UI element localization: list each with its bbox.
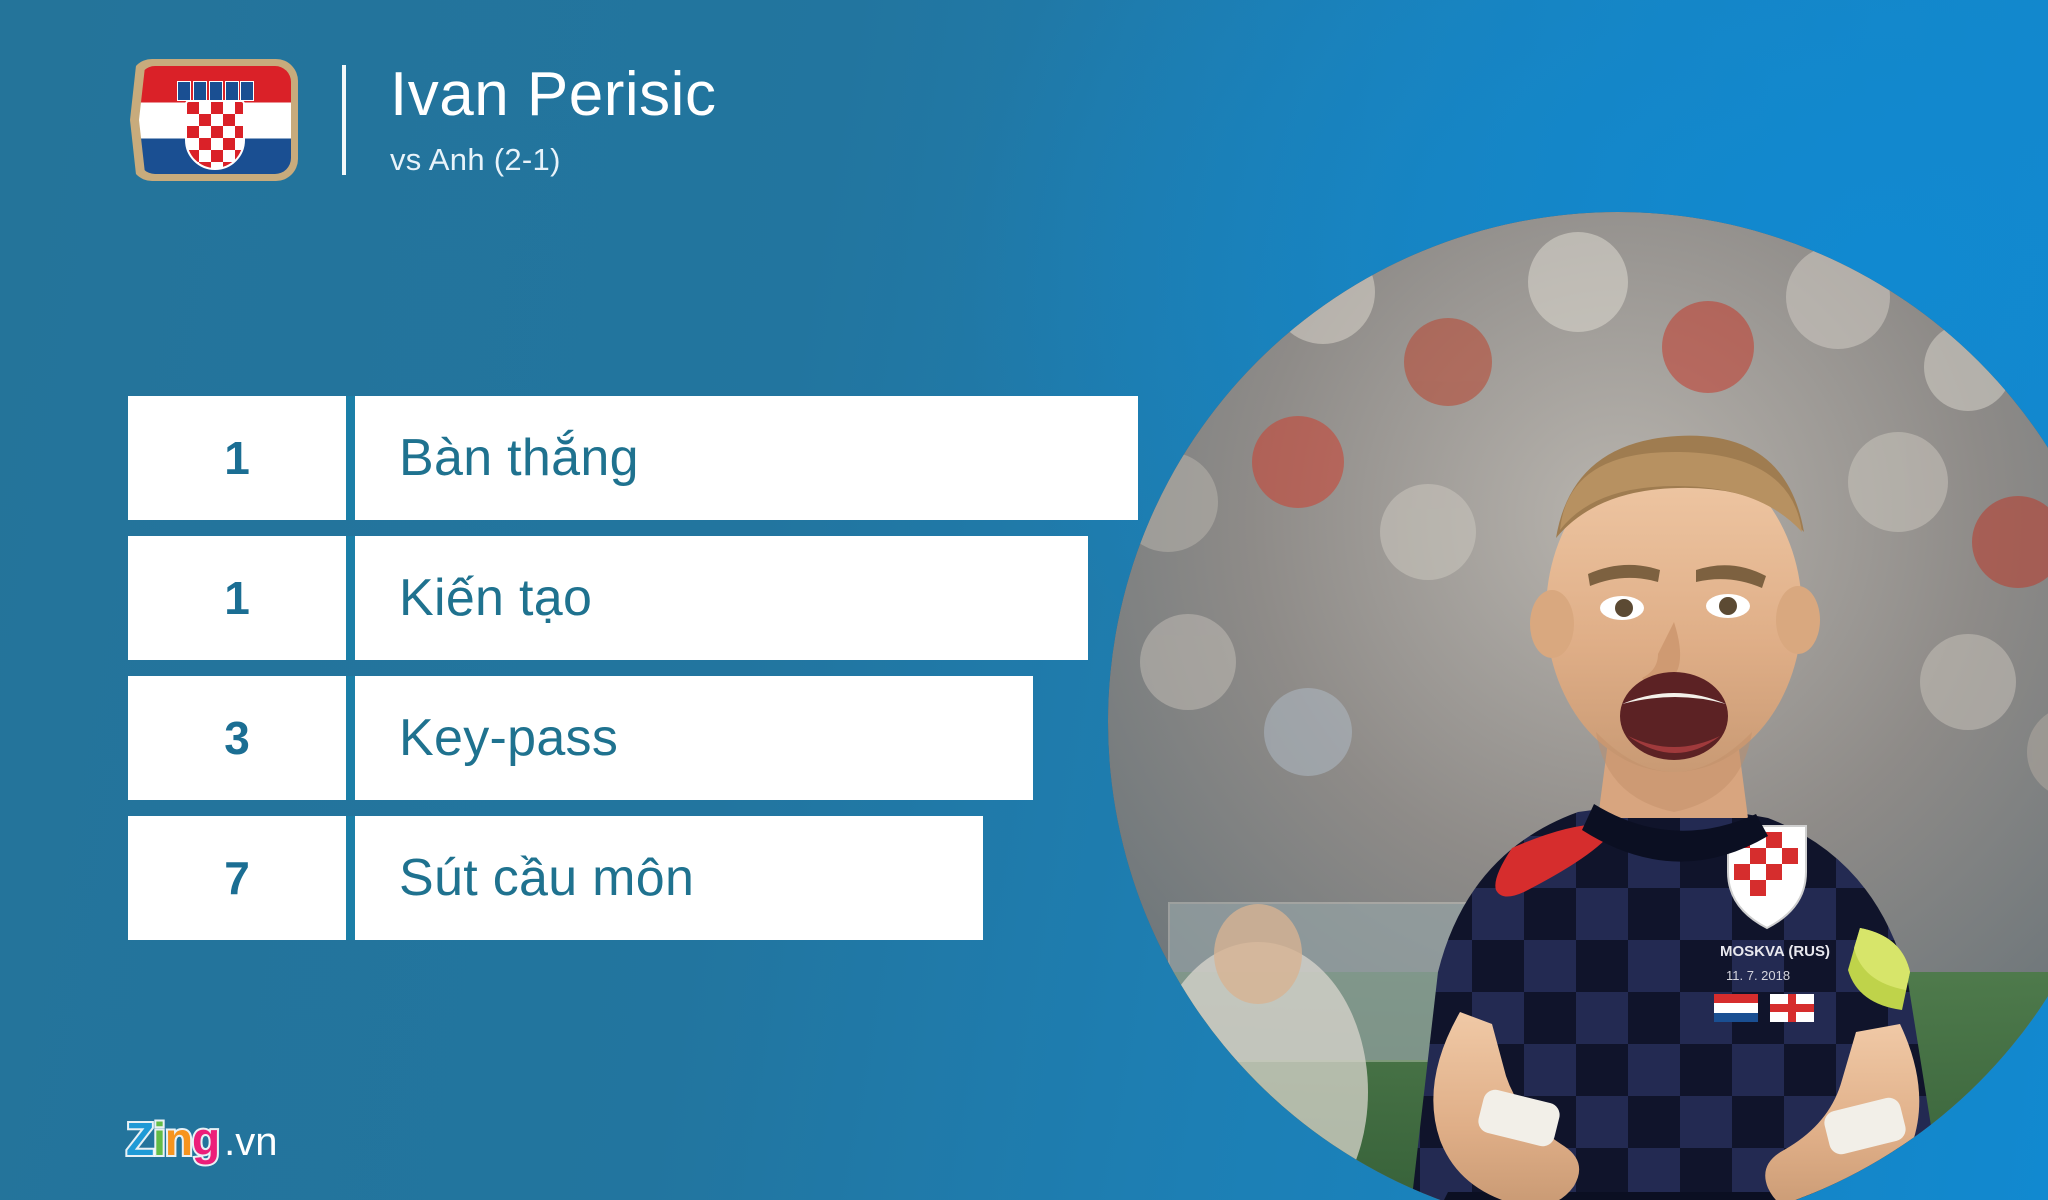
stat-label: Sút cầu môn (355, 848, 694, 908)
stat-separator (346, 396, 355, 520)
stat-value: 1 (128, 396, 346, 520)
stat-label: Key-pass (355, 708, 618, 768)
header: Ivan Perisic vs Anh (2-1) (130, 55, 716, 185)
croatia-flag-badge-icon (130, 59, 298, 181)
stat-separator (346, 816, 355, 940)
stat-value: 1 (128, 536, 346, 660)
player-photo-image: MOSKVA (RUS) 11. 7. 2018 (1108, 212, 2048, 1200)
stat-separator (346, 536, 355, 660)
logo-letter-i: i (153, 1112, 165, 1166)
player-name: Ivan Perisic (390, 62, 716, 127)
stat-label: Bàn thắng (355, 428, 639, 488)
player-photo: MOSKVA (RUS) 11. 7. 2018 (1108, 212, 2048, 1200)
logo-letter-g: g (192, 1112, 219, 1166)
stat-value: 7 (128, 816, 346, 940)
stat-row: 1 Kiến tạo (128, 536, 1088, 660)
stat-row: 7 Sút cầu môn (128, 816, 983, 940)
logo-letter-z: Z (126, 1112, 153, 1166)
header-divider (342, 65, 346, 175)
stat-value: 3 (128, 676, 346, 800)
logo-letter-n: n (165, 1112, 192, 1166)
svg-text:MOSKVA (RUS): MOSKVA (RUS) (1720, 943, 1830, 960)
stats-list: 1 Bàn thắng 1 Kiến tạo 3 Key-pass 7 Sút … (128, 396, 1138, 940)
stat-row: 1 Bàn thắng (128, 396, 1138, 520)
match-subtitle: vs Anh (2-1) (390, 142, 716, 178)
logo-domain-suffix: .vn (224, 1120, 277, 1165)
svg-text:11. 7. 2018: 11. 7. 2018 (1726, 968, 1790, 983)
stat-row: 3 Key-pass (128, 676, 1033, 800)
stat-label: Kiến tạo (355, 568, 592, 628)
croatia-coat-of-arms-icon (176, 77, 254, 173)
zing-vn-logo[interactable]: Z i n g .vn (126, 1112, 277, 1166)
stat-separator (346, 676, 355, 800)
